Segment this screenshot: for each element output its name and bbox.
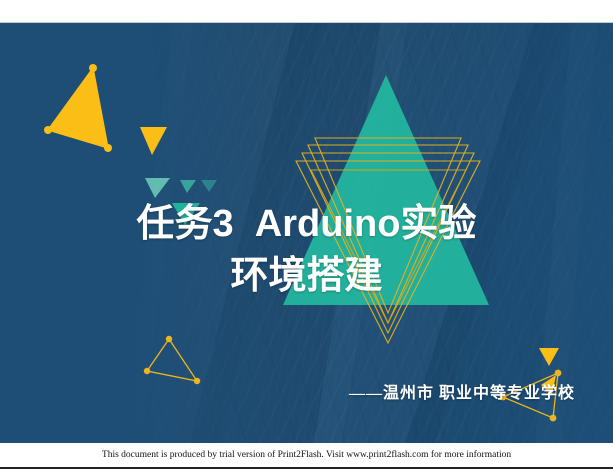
- slide-title-line-2: 环境搭建: [0, 250, 613, 302]
- print2flash-trial-notice: This document is produced by trial versi…: [0, 450, 613, 460]
- slide-page: 任务3 Arduino实验 环境搭建 ——温州市 职业中等专业学校 This d…: [0, 0, 613, 475]
- yellow-triangle-filled-icon: [44, 64, 112, 152]
- slide-title-line-1: 任务3 Arduino实验: [0, 198, 613, 250]
- bottom-right-small-triangle-icon: [539, 348, 559, 366]
- bottom-left-triangle-outline-icon: [144, 336, 200, 384]
- presentation-slide: 任务3 Arduino实验 环境搭建 ——温州市 职业中等专业学校: [0, 23, 613, 443]
- footer-area: This document is produced by trial versi…: [0, 443, 613, 475]
- top-white-margin: [0, 0, 613, 22]
- footer-bottom-rule: [0, 467, 613, 469]
- small-yellow-triangle-icon: [140, 127, 167, 155]
- slide-title: 任务3 Arduino实验 环境搭建: [0, 198, 613, 302]
- slide-subtitle: ——温州市 职业中等专业学校: [349, 379, 575, 403]
